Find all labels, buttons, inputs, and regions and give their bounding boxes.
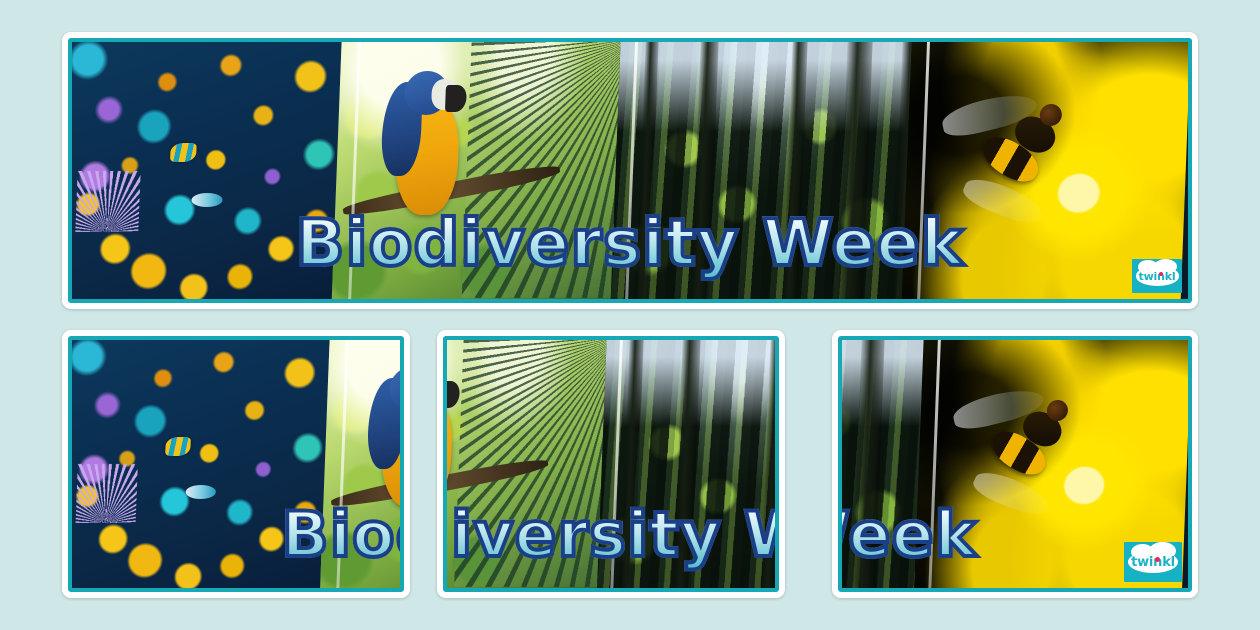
banner-page: Biodiversity Week Biodiversity Week twin… <box>0 0 1260 630</box>
scene-rainforest-macaw <box>447 340 623 588</box>
striped-fish <box>170 143 196 162</box>
twinkl-dot-icon <box>1159 272 1163 276</box>
full-banner-frame: Biodiversity Week Biodiversity Week twin… <box>68 38 1192 303</box>
banner-section-2-frame: Biodiversity Week Biodiversity Week <box>443 336 779 592</box>
scene-temperate-forest <box>597 340 775 588</box>
scene-rainforest-macaw <box>331 42 637 299</box>
banner-section-1[interactable]: Biodiversity Week Biodiversity Week <box>62 330 410 598</box>
tree-trunk <box>673 340 701 588</box>
scene-rainforest-macaw <box>320 340 400 588</box>
twinkl-dot-icon <box>1155 557 1160 562</box>
tree-trunk <box>620 340 643 588</box>
tree-trunk <box>635 42 659 299</box>
silver-fish <box>186 485 217 498</box>
striped-fish <box>165 437 190 456</box>
macaw-beak <box>445 84 467 112</box>
tree-trunk <box>761 340 775 588</box>
tree-trunk <box>782 42 808 299</box>
scene-coral-reef <box>72 340 345 588</box>
twinkl-logo-text: twinkl <box>1132 259 1182 293</box>
banner-section-1-frame: Biodiversity Week Biodiversity Week <box>68 336 404 592</box>
banner-section-3[interactable]: Biodiversity Week Biodiversity Week twin… <box>832 330 1198 598</box>
full-banner-artwork: Biodiversity Week Biodiversity Week twin… <box>72 42 1188 299</box>
silver-fish <box>191 193 223 207</box>
scene-coral-reef <box>72 42 358 299</box>
anemone-shape <box>76 171 141 232</box>
twinkl-logo-text: twinkl <box>1124 542 1182 582</box>
banner-section-1-artwork: Biodiversity Week Biodiversity Week <box>72 340 400 588</box>
twinkl-logo[interactable]: twinkl <box>1132 259 1182 293</box>
twinkl-logo[interactable]: twinkl <box>1124 542 1182 582</box>
tree-trunk <box>690 42 719 299</box>
banner-section-2-artwork: Biodiversity Week Biodiversity Week <box>447 340 775 588</box>
full-banner-preview[interactable]: Biodiversity Week Biodiversity Week twin… <box>62 32 1198 309</box>
scene-temperate-forest <box>610 42 928 299</box>
anemone-shape <box>76 464 138 523</box>
macaw-beak <box>447 381 460 408</box>
tree-trunk <box>852 340 886 588</box>
banner-section-3-artwork: Biodiversity Week Biodiversity Week twin… <box>842 340 1188 588</box>
banner-section-2[interactable]: Biodiversity Week Biodiversity Week <box>437 330 785 598</box>
tree-trunk <box>837 42 872 299</box>
banner-section-3-frame: Biodiversity Week Biodiversity Week twin… <box>838 336 1192 592</box>
